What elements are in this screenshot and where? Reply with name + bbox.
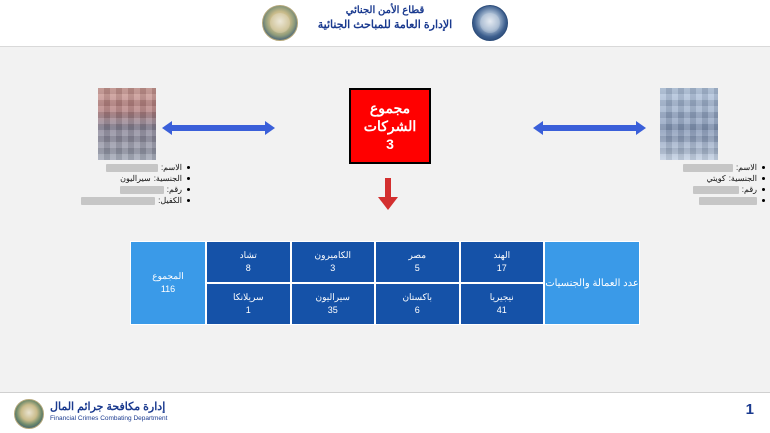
nationality-name: سيراليون: [316, 291, 350, 304]
table-cell: مصر 5: [375, 241, 460, 283]
nationality-count: 6: [415, 304, 420, 317]
field-label: رقم:: [167, 184, 182, 195]
arrow-head-right: [265, 121, 275, 135]
avatar: [660, 88, 718, 160]
person-card-left: الاسم: الجنسية: سيراليون رقم: الكفيل:: [90, 88, 250, 208]
emblem-inner-ring: [480, 13, 500, 33]
page-footer: إدارة مكافحة جرائم المال Financial Crime…: [0, 392, 770, 433]
header-line-2: الإدارة العامة للمباحث الجنائية: [0, 18, 770, 33]
header-title-block: قطاع الأمن الجنائي الإدارة العامة للمباح…: [0, 4, 770, 33]
redacted-value: [693, 186, 739, 194]
person-left-fields: الاسم: الجنسية: سيراليون رقم: الكفيل:: [30, 162, 190, 206]
nationality-count: 8: [246, 262, 251, 275]
nationality-name: سريلانكا: [233, 291, 264, 304]
total-cell: المجموع 116: [130, 241, 206, 325]
companies-box-value: 3: [386, 135, 394, 153]
nationality-count: 5: [415, 262, 420, 275]
field-value: سيراليون: [120, 173, 151, 184]
redacted-value: [699, 197, 757, 205]
nationality-name: باكستان: [402, 291, 432, 304]
nationality-count: 1: [246, 304, 251, 317]
table-cell: الكاميرون 3: [291, 241, 376, 283]
nationality-name: الهند: [493, 249, 510, 262]
ministry-emblem-icon: [472, 5, 508, 41]
nationality-name: تشاد: [240, 249, 257, 262]
field-label: الكفيل:: [158, 195, 182, 206]
list-item: الكفيل:: [30, 195, 190, 206]
slide-page: قطاع الأمن الجنائي الإدارة العامة للمباح…: [0, 0, 770, 433]
bullet-icon: [187, 166, 190, 169]
bullet-icon: [187, 188, 190, 191]
header-line-1: قطاع الأمن الجنائي: [0, 4, 770, 18]
arrow-head-down: [378, 197, 398, 210]
nationality-name: الكاميرون: [315, 249, 351, 262]
nationality-count: 35: [328, 304, 338, 317]
list-item: الاسم:: [30, 162, 190, 173]
pixelation-overlay: [660, 88, 718, 160]
police-emblem-icon: [14, 399, 44, 429]
bullet-icon: [762, 199, 765, 202]
footer-department-english: Financial Crimes Combating Department: [50, 414, 167, 423]
bullet-icon: [762, 188, 765, 191]
field-label: الجنسية:: [154, 173, 182, 184]
redacted-value: [106, 164, 158, 172]
list-item: [630, 195, 765, 206]
list-item: رقم:: [30, 184, 190, 195]
list-item: رقم:: [630, 184, 765, 195]
field-label: الاسم:: [161, 162, 182, 173]
nationalities-grid: الهند 17 مصر 5 الكاميرون 3 تشاد 8 نيجيري…: [206, 241, 544, 325]
total-value: 116: [161, 283, 175, 296]
bullet-icon: [762, 166, 765, 169]
page-header: قطاع الأمن الجنائي الإدارة العامة للمباح…: [0, 0, 770, 47]
bullet-icon: [187, 177, 190, 180]
arrow-shaft-vertical: [385, 178, 391, 198]
list-item: الجنسية: كويتي: [630, 173, 765, 184]
nationality-count: 3: [330, 262, 335, 275]
field-label: الجنسية:: [729, 173, 757, 184]
nationality-name: مصر: [408, 249, 426, 262]
companies-total-box: مجموع الشركات 3: [349, 88, 431, 164]
list-item: الجنسية: سيراليون: [30, 173, 190, 184]
bullet-icon: [762, 177, 765, 180]
list-item: الاسم:: [630, 162, 765, 173]
companies-box-line2: الشركات: [364, 117, 416, 135]
nationalities-table: المجموع 116 الهند 17 مصر 5 الكاميرون 3 ت…: [130, 241, 640, 325]
table-row-label: عدد العمالة والجنسيات: [544, 241, 640, 325]
down-arrow-icon: [378, 178, 398, 210]
table-cell: سريلانكا 1: [206, 283, 291, 325]
avatar: [98, 88, 156, 160]
field-label: الاسم:: [736, 162, 757, 173]
footer-department-arabic: إدارة مكافحة جرائم المال: [50, 401, 167, 414]
table-cell: باكستان 6: [375, 283, 460, 325]
table-cell: نيجيريا 41: [460, 283, 545, 325]
redacted-value: [81, 197, 155, 205]
emblem-inner-ring: [270, 13, 290, 33]
table-cell: الهند 17: [460, 241, 545, 283]
total-label: المجموع: [152, 270, 183, 283]
nationality-count: 17: [497, 262, 507, 275]
person-card-right: الاسم: الجنسية: كويتي رقم:: [600, 88, 770, 208]
person-right-fields: الاسم: الجنسية: كويتي رقم:: [630, 162, 765, 206]
field-label: رقم:: [742, 184, 757, 195]
table-cell: سيراليون 35: [291, 283, 376, 325]
nationality-count: 41: [497, 304, 507, 317]
police-emblem-icon: [262, 5, 298, 41]
nationality-name: نيجيريا: [490, 291, 514, 304]
companies-box-line1: مجموع: [370, 99, 410, 117]
table-cell: تشاد 8: [206, 241, 291, 283]
footer-text-block: إدارة مكافحة جرائم المال Financial Crime…: [50, 401, 167, 423]
field-value: كويتي: [706, 173, 725, 184]
redacted-value: [683, 164, 733, 172]
bullet-icon: [187, 199, 190, 202]
redacted-value: [120, 186, 164, 194]
pixelation-overlay: [98, 88, 156, 160]
page-number: 1: [746, 401, 754, 418]
